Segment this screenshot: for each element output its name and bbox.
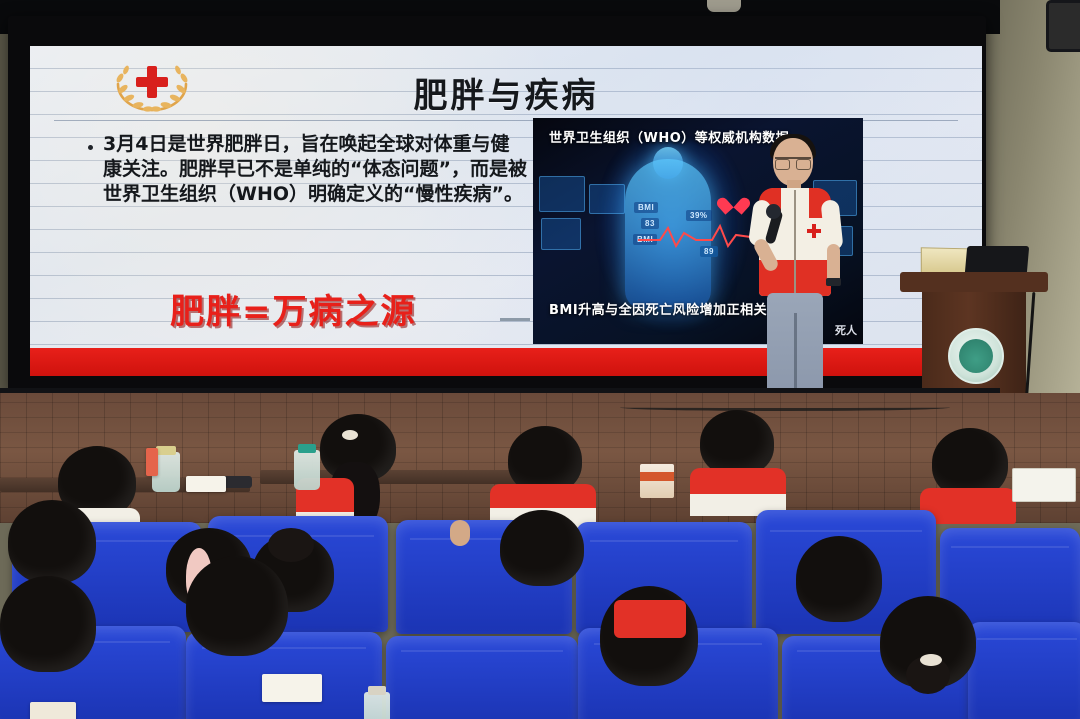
background-monitor (541, 218, 581, 250)
water-bottle (294, 450, 320, 490)
hair-bun (268, 528, 314, 562)
hair-tie (342, 430, 358, 440)
paper-sheet (262, 674, 322, 702)
laptop (965, 246, 1029, 274)
red-cup (146, 448, 158, 476)
background-monitor (539, 176, 585, 212)
glasses-icon (775, 157, 811, 168)
seat[interactable] (386, 636, 578, 719)
background-monitor (589, 184, 625, 214)
seat[interactable] (968, 622, 1080, 719)
microphone-head-icon (766, 204, 781, 219)
snack-box (640, 464, 674, 498)
hair-tie (920, 654, 942, 666)
snack-box-band (640, 472, 674, 481)
audience-head (0, 576, 96, 672)
ceiling-light (707, 0, 741, 12)
panel-caption-bottom: BMI升高与全因死亡风险增加正相关 (549, 302, 767, 320)
vest-zipper (794, 190, 796, 296)
red-cross-badge-icon (807, 224, 821, 238)
table-card-text (1013, 469, 1075, 481)
bmi-tag: BMI (634, 202, 658, 213)
slide-bullet: 3月4日是世界肥胖日，旨在唤起全球对体重与健康关注。肥胖早已不是单纯的“体态问题… (88, 132, 528, 207)
bottle-cap (156, 446, 176, 455)
bottle-cap (298, 444, 316, 453)
podium-top (900, 272, 1048, 292)
bullet-point-icon (88, 145, 93, 150)
audience-head (186, 556, 288, 656)
audience-head (500, 510, 584, 586)
presenter (745, 138, 855, 400)
cup (30, 702, 76, 719)
percent-tag: 39% (686, 210, 712, 221)
seal-inner (959, 339, 993, 373)
ecg-line-icon (638, 222, 758, 248)
bottle-cap (368, 686, 386, 695)
slide-bullet-text: 3月4日是世界肥胖日，旨在唤起全球对体重与健康关注。肥胖早已不是单纯的“体态问题… (103, 132, 528, 207)
paper-sheet (186, 476, 226, 492)
heart-icon (724, 195, 744, 213)
audience-hand (450, 520, 470, 546)
smartphone (222, 476, 252, 488)
headline-dash (500, 318, 530, 321)
audience-area (0, 400, 1080, 719)
water-bottle (364, 692, 390, 719)
slide-title: 肥胖与疾病 (30, 68, 982, 117)
audience-head (796, 536, 882, 622)
audience-head (700, 410, 774, 476)
table-card-sign (1012, 468, 1076, 502)
institution-seal-icon (948, 328, 1004, 384)
slide-red-headline: 肥胖=万病之源 (170, 284, 417, 333)
red-scarf (614, 600, 686, 638)
wristwatch-icon (826, 278, 841, 286)
audience-head (8, 500, 96, 584)
lecture-hall-scene: 肥胖与疾病 3月4日是世界肥胖日，旨在唤起全球对体重与健康关注。肥胖早已不是单纯… (0, 0, 1080, 719)
wall-mounted-device (1046, 0, 1080, 52)
